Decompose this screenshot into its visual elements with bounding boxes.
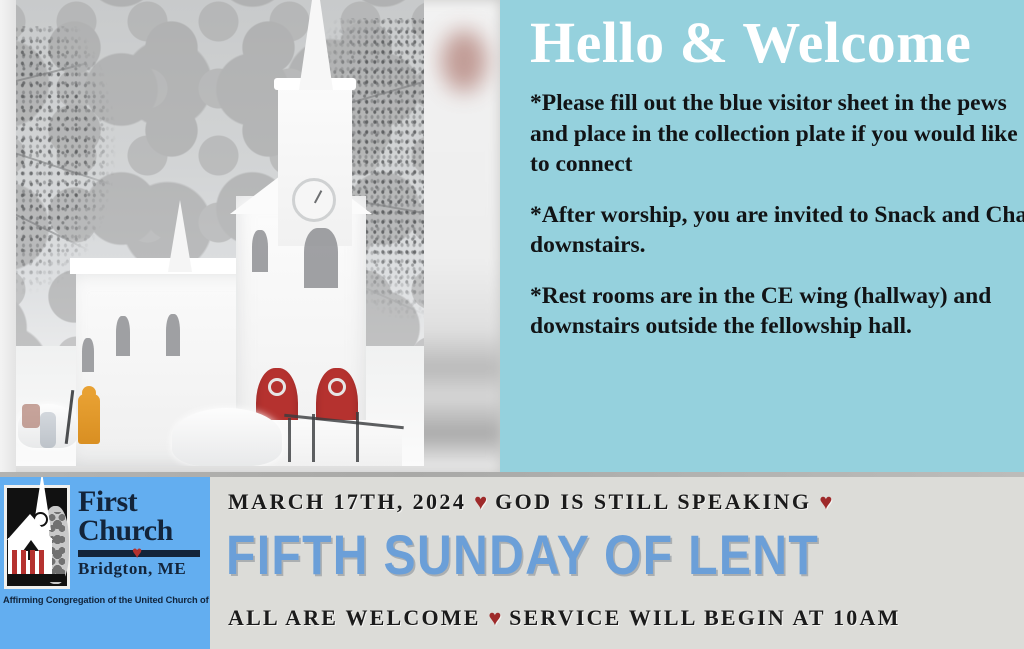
person-orange-coat	[78, 394, 100, 444]
heart-icon: ♥	[132, 544, 142, 561]
winter-church-photograph	[16, 0, 424, 466]
heart-icon: ♥	[488, 605, 501, 630]
heart-icon: ♥	[474, 489, 487, 514]
nave-window	[116, 316, 130, 356]
church-logo: First Church ♥ Bridgton, ME Affirming Co…	[0, 477, 210, 649]
door-wreath-icon	[328, 378, 346, 396]
snow-covered-bush	[172, 408, 282, 466]
logo-tagline: Affirming Congregation of the United Chu…	[3, 595, 209, 605]
church-motto: GOD IS STILL SPEAKING	[495, 489, 811, 514]
facade-window	[304, 228, 338, 288]
stair-railing	[288, 418, 291, 462]
logo-red-column	[30, 550, 35, 574]
nave-window	[166, 314, 180, 356]
announcement-item: *Rest rooms are in the CE wing (hallway)…	[530, 281, 1024, 342]
stair-railing	[356, 412, 359, 462]
banner-text-block: MARCH 17TH, 2024 ♥ GOD IS STILL SPEAKING…	[228, 477, 1024, 649]
logo-row: First Church ♥ Bridgton, ME	[0, 485, 200, 589]
panel-announcements: *Please fill out the blue visitor sheet …	[530, 88, 1024, 342]
snow-figure	[40, 412, 56, 448]
church-side-spire	[168, 200, 192, 272]
logo-town: Bridgton, ME	[78, 559, 200, 579]
logo-gable	[7, 514, 53, 540]
nave-window	[82, 338, 94, 372]
church-tower	[278, 86, 352, 246]
logo-red-column	[21, 550, 26, 574]
service-time-text: SERVICE WILL BEGIN AT 10AM	[509, 605, 900, 630]
church-photo-area	[0, 0, 500, 472]
heart-icon: ♥	[819, 489, 832, 514]
service-date-line: MARCH 17TH, 2024 ♥ GOD IS STILL SPEAKING…	[228, 489, 832, 515]
facade-window	[252, 230, 268, 272]
announcement-item: *Please fill out the blue visitor sheet …	[530, 88, 1024, 180]
photo-blur-red-blob	[441, 30, 487, 92]
welcome-text: ALL ARE WELCOME	[228, 605, 481, 630]
person-shoveling-snow	[78, 386, 100, 450]
photo-left-strip	[0, 0, 16, 472]
logo-name-line1: First	[78, 487, 200, 516]
logo-divider-bar: ♥	[78, 550, 200, 557]
church-building-icon	[4, 485, 70, 589]
logo-red-column	[39, 550, 44, 574]
church-steeple	[299, 0, 333, 90]
logo-red-column	[12, 550, 17, 574]
service-info-line: ALL ARE WELCOME ♥ SERVICE WILL BEGIN AT …	[228, 605, 901, 631]
logo-wordmark: First Church ♥ Bridgton, ME	[78, 485, 200, 579]
bottom-info-banner: First Church ♥ Bridgton, ME Affirming Co…	[0, 472, 1024, 649]
door-wreath-icon	[268, 378, 286, 396]
stair-railing	[312, 414, 315, 462]
service-title: FIFTH SUNDAY OF LENT	[226, 522, 819, 587]
announcement-item: *After worship, you are invited to Snack…	[530, 200, 1024, 261]
slide-canvas: Hello & Welcome *Please fill out the blu…	[0, 0, 1024, 649]
panel-title: Hello & Welcome	[530, 14, 1024, 72]
service-date: MARCH 17TH, 2024	[228, 489, 466, 514]
logo-base	[7, 574, 65, 582]
welcome-announcement-panel: Hello & Welcome *Please fill out the blu…	[500, 0, 1024, 472]
tower-clock-icon	[292, 178, 336, 222]
snow-object	[22, 404, 40, 428]
